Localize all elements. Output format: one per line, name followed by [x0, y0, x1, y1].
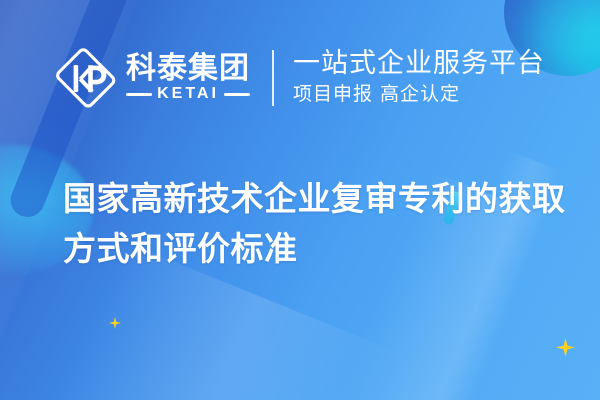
brand-name-en: KETAI	[157, 85, 219, 103]
page-title-line-1: 国家高新技术企业复审专利的获取	[63, 174, 563, 224]
sparkle-star-large-icon	[556, 338, 575, 357]
slogan-secondary: 项目申报 高企认定	[293, 83, 545, 107]
wordmark-rule-left	[126, 93, 152, 96]
header-divider	[272, 50, 274, 106]
sparkle-star-small-icon	[109, 317, 121, 329]
brand-wordmark: 科泰集团 KETAI	[126, 53, 250, 103]
brand-name-en-row: KETAI	[126, 85, 250, 103]
brand-name-cn: 科泰集团	[126, 53, 250, 84]
ketai-diamond-kp-monogram-icon	[56, 48, 116, 108]
page-title-line-2: 方式和评价标准	[63, 224, 563, 274]
slogan-primary: 一站式企业服务平台	[293, 49, 545, 80]
page-title: 国家高新技术企业复审专利的获取 方式和评价标准	[63, 174, 563, 274]
wordmark-rule-right	[224, 93, 250, 96]
brand-logo[interactable]: 科泰集团 KETAI	[56, 48, 250, 108]
promo-banner: 科泰集团 KETAI 一站式企业服务平台 项目申报 高企认定 国家高新技术企业复…	[0, 0, 600, 400]
slogan-block: 一站式企业服务平台 项目申报 高企认定	[293, 49, 545, 107]
banner-header: 科泰集团 KETAI 一站式企业服务平台 项目申报 高企认定	[0, 36, 600, 120]
